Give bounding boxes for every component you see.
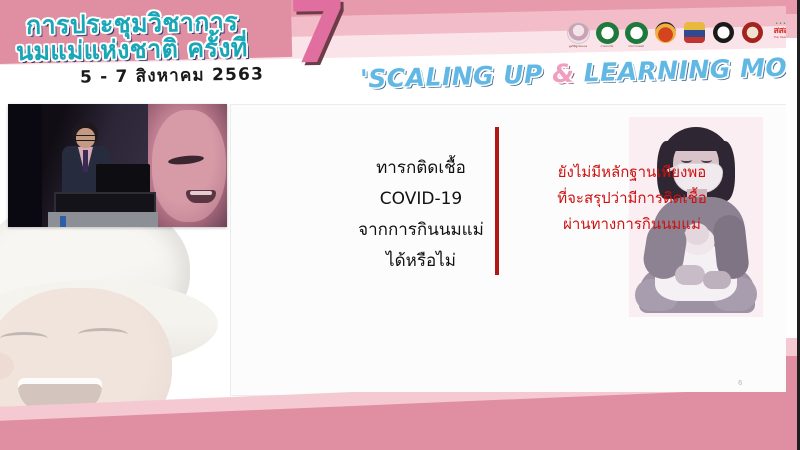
mother-hair-front	[671, 129, 721, 151]
tagline-part-1: 'SCALING UP	[360, 59, 553, 93]
sponsor-logo-row: มูลนิธิศูนย์นมแม่ กรมอนามัย กรมการแพทย์ …	[566, 22, 793, 48]
logo-mark	[713, 22, 734, 43]
question-line-2: COVID-19	[331, 184, 511, 215]
slide-stage: การประชุมวิชาการ นมแม่แห่งชาติ ครั้งที่ …	[0, 0, 800, 450]
answer-line-1: ยังไม่มีหลักฐานเพียงพอ	[507, 159, 757, 185]
question-text-block: ทารกติดเชื้อ COVID-19 จากการกินนมแม่ ได้…	[331, 153, 511, 277]
logo-mark	[684, 22, 705, 43]
laptop-icon	[96, 164, 150, 194]
health-department-emblem-icon: กรมการแพทย์	[624, 22, 648, 48]
national-flag-crest-icon	[682, 22, 706, 48]
footer-decorative-band	[0, 392, 800, 450]
answer-line-2: ที่จะสรุปว่ามีการติดเชื้อ	[507, 185, 757, 211]
glasses-icon	[76, 135, 95, 141]
royal-patronage-emblem-icon: มูลนิธิศูนย์นมแม่	[566, 22, 590, 48]
logo-mark	[596, 22, 619, 44]
projected-baby-teeth	[190, 191, 212, 195]
speaker-video-thumbnail[interactable]	[8, 104, 227, 227]
mother-hand-right	[703, 271, 731, 289]
black-circle-emblem-icon	[711, 22, 735, 48]
child-eye-left	[0, 332, 48, 345]
slide-content-card: ทารกติดเชื้อ COVID-19 จากการกินนมแม่ ได้…	[230, 104, 792, 396]
vertical-red-divider	[495, 127, 499, 275]
conference-header-banner: การประชุมวิชาการ นมแม่แห่งชาติ ครั้งที่ …	[0, 0, 800, 96]
red-seal-emblem-icon	[740, 22, 764, 48]
logo-caption: มูลนิธิศูนย์นมแม่	[569, 45, 587, 48]
projected-baby-face	[152, 110, 226, 222]
logo-caption: กรมอนามัย	[601, 45, 614, 48]
logo-mark	[655, 22, 676, 43]
conference-date: 5 - 7 สิงหาคม 2563	[80, 60, 265, 90]
conference-edition-number: 7	[287, 0, 348, 77]
question-line-3: จากการกินนมแม่	[331, 215, 511, 246]
stage-dark-panel	[8, 104, 42, 227]
logo-mark	[567, 22, 590, 44]
page-number: 6	[738, 379, 742, 387]
answer-text-block: ยังไม่มีหลักฐานเพียงพอ ที่จะสรุปว่ามีการ…	[507, 159, 757, 237]
logo-caption: กรมการแพทย์	[628, 45, 644, 48]
question-line-1: ทารกติดเชื้อ	[331, 153, 511, 184]
tagline-part-2: LEARNING MORE'	[574, 51, 800, 87]
question-line-4: ได้หรือไม่	[331, 246, 511, 277]
slide-body: ทารกติดเชื้อ COVID-19 จากการกินนมแม่ ได้…	[0, 96, 800, 450]
logo-mark	[625, 22, 648, 44]
child-eye-right	[78, 328, 128, 341]
answer-line-3: ผ่านทางการกินนมแม่	[507, 211, 757, 237]
logo-mark	[742, 22, 763, 43]
royal-crest-emblem-icon	[653, 22, 677, 48]
podium-blue-accent	[60, 216, 66, 227]
mother-hand-left	[675, 265, 705, 285]
speaker-tie	[83, 150, 88, 172]
ministry-of-public-health-emblem-icon: กรมอนามัย	[595, 22, 619, 48]
tagline-ampersand: &	[552, 59, 575, 89]
